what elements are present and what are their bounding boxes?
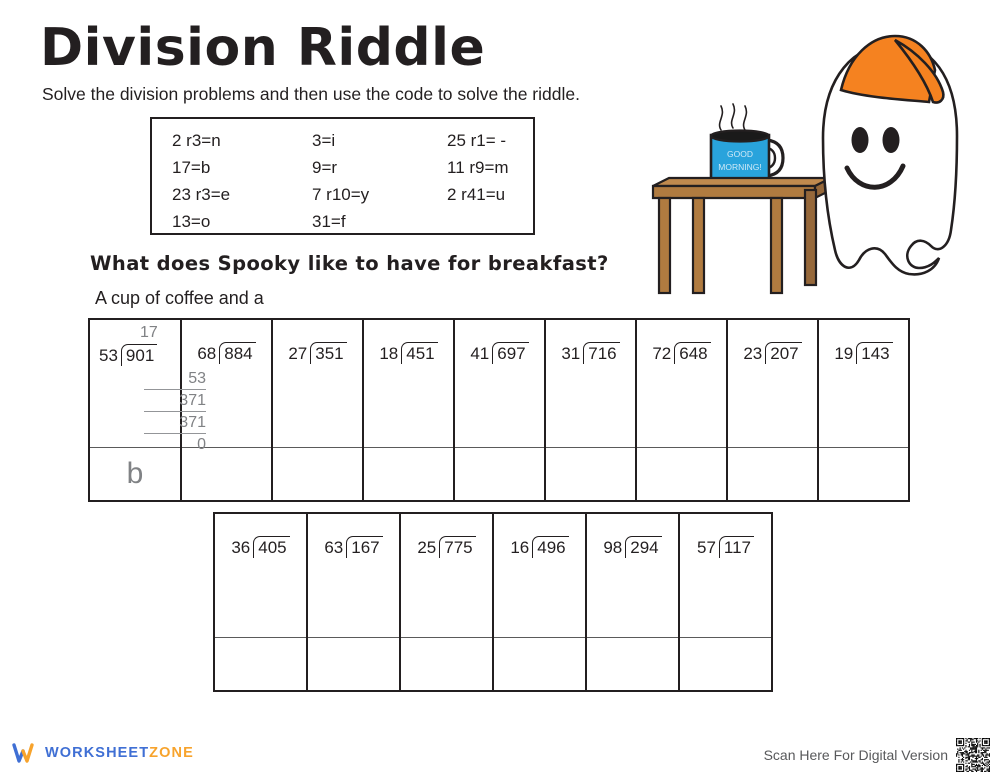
long-division-expression: 25775 (417, 536, 475, 558)
code-legend-entry: 3=i (312, 128, 447, 153)
problem-cell[interactable]: 98294 (586, 513, 679, 637)
dividend: 496 (532, 536, 568, 558)
problem-cell[interactable]: 57117 (679, 513, 772, 637)
code-legend-entry: 13=o (172, 209, 312, 234)
code-legend-entry: 17=b (172, 155, 312, 180)
problem-cell[interactable]: 31716 (545, 319, 636, 447)
answer-cell[interactable] (727, 447, 818, 501)
riddle-answer-lead: A cup of coffee and a (95, 288, 264, 309)
divisor: 16 (510, 538, 532, 558)
long-division-expression: 16496 (510, 536, 568, 558)
dividend: 294 (625, 536, 661, 558)
long-division-expression: 68884 (197, 342, 255, 364)
long-division-expression: 19143 (834, 342, 892, 364)
problem-cell[interactable]: 18451 (363, 319, 454, 447)
code-legend-entry: 9=r (312, 155, 447, 180)
answer-cell[interactable] (586, 637, 679, 691)
answer-cell[interactable]: b (89, 447, 181, 501)
ghost-eye-left (852, 127, 869, 153)
scan-text: Scan Here For Digital Version (764, 747, 948, 763)
dividend: 143 (856, 342, 892, 364)
quotient: 17 (140, 324, 158, 342)
long-division-expression: 27351 (288, 342, 346, 364)
long-division-expression: 53901 (99, 344, 157, 366)
worked-example: 1753901533713710 (90, 320, 180, 447)
dividend: 697 (492, 342, 528, 364)
answer-cell[interactable] (818, 447, 909, 501)
divisor: 68 (197, 344, 219, 364)
division-work: 533713710 (144, 368, 206, 455)
divisor: 63 (324, 538, 346, 558)
dividend: 716 (583, 342, 619, 364)
divisor: 57 (697, 538, 719, 558)
long-division-expression: 72648 (652, 342, 710, 364)
problem-table-2: 364056316725775164969829457117 (213, 512, 773, 692)
page-title: Division Riddle (40, 18, 485, 78)
code-legend-grid: 2 r3=n3=i25 r1= -17=b9=r11 r9=m23 r3=e7 … (172, 128, 533, 234)
code-legend-entry: 11 r9=m (447, 155, 533, 180)
answer-cell[interactable] (214, 637, 307, 691)
dividend: 117 (719, 536, 754, 558)
answer-cell[interactable] (545, 447, 636, 501)
answer-letter: b (127, 457, 144, 490)
divisor: 98 (603, 538, 625, 558)
table-row-answers: b (89, 447, 909, 501)
answer-cell[interactable] (493, 637, 586, 691)
long-division-expression: 31716 (561, 342, 619, 364)
divisor: 31 (561, 344, 583, 364)
long-division-expression: 63167 (324, 536, 382, 558)
worksheetzone-logo-icon (12, 742, 38, 764)
dividend: 648 (674, 342, 710, 364)
problem-cell[interactable]: 27351 (272, 319, 363, 447)
long-division-expression: 36405 (231, 536, 289, 558)
code-legend-entry: 7 r10=y (312, 182, 447, 207)
worksheet-page: Division Riddle Solve the division probl… (0, 0, 1000, 772)
dividend: 405 (253, 536, 289, 558)
riddle-question: What does Spooky like to have for breakf… (90, 252, 609, 275)
long-division-expression: 23207 (743, 342, 801, 364)
problem-cell[interactable]: 36405 (214, 513, 307, 637)
ghost-illustration (805, 18, 995, 288)
problem-cell[interactable]: 19143 (818, 319, 909, 447)
dividend: 351 (310, 342, 346, 364)
table-row-answers (214, 637, 772, 691)
brand-name-second: ZONE (149, 745, 194, 761)
steam-icon (720, 104, 747, 130)
table-row-problems: 1753901533713710688842735118451416973171… (89, 319, 909, 447)
answer-cell[interactable] (363, 447, 454, 501)
division-step: 371 (144, 390, 206, 412)
code-legend-entry: 23 r3=e (172, 182, 312, 207)
divisor: 25 (417, 538, 439, 558)
problem-table-1: 1753901533713710688842735118451416973171… (88, 318, 910, 502)
dividend: 167 (346, 536, 382, 558)
long-division-expression: 98294 (603, 536, 661, 558)
qr-code-icon[interactable] (956, 738, 990, 772)
brand-footer: WORKSHEETZONE (12, 742, 194, 764)
scan-footer: Scan Here For Digital Version (764, 738, 990, 772)
code-legend-entry (447, 209, 533, 234)
divisor: 41 (470, 344, 492, 364)
divisor: 18 (379, 344, 401, 364)
long-division-expression: 18451 (379, 342, 437, 364)
long-division-expression: 57117 (697, 536, 754, 558)
problem-cell[interactable]: 23207 (727, 319, 818, 447)
division-step: 0 (144, 434, 206, 455)
answer-cell[interactable] (307, 637, 400, 691)
division-step: 53 (144, 368, 206, 390)
dividend: 451 (401, 342, 437, 364)
dividend: 775 (439, 536, 475, 558)
code-legend-entry: 2 r41=u (447, 182, 533, 207)
problem-cell[interactable]: 41697 (454, 319, 545, 447)
dividend: 207 (765, 342, 801, 364)
divisor: 19 (834, 344, 856, 364)
code-legend-entry: 2 r3=n (172, 128, 312, 153)
table-row-problems: 364056316725775164969829457117 (214, 513, 772, 637)
problem-cell[interactable]: 63167 (307, 513, 400, 637)
instruction-text: Solve the division problems and then use… (42, 84, 580, 105)
mug-text-line2: MORNING! (718, 162, 761, 172)
answer-cell[interactable] (636, 447, 727, 501)
dividend: 901 (121, 344, 157, 366)
divisor: 36 (231, 538, 253, 558)
ghost-eye-right (883, 127, 900, 153)
divisor: 72 (652, 344, 674, 364)
problem-cell[interactable]: 25775 (400, 513, 493, 637)
problem-cell[interactable]: 72648 (636, 319, 727, 447)
answer-cell[interactable] (454, 447, 545, 501)
mug-text-line1: GOOD (727, 149, 753, 159)
code-legend-entry: 25 r1= - (447, 128, 533, 153)
problem-cell[interactable]: 1753901533713710 (89, 319, 181, 447)
code-legend-box: 2 r3=n3=i25 r1= -17=b9=r11 r9=m23 r3=e7 … (150, 117, 535, 235)
divisor: 53 (99, 346, 121, 366)
divisor: 23 (743, 344, 765, 364)
answer-cell[interactable] (272, 447, 363, 501)
problem-cell[interactable]: 16496 (493, 513, 586, 637)
dividend: 884 (219, 342, 255, 364)
answer-cell[interactable] (400, 637, 493, 691)
answer-cell[interactable] (679, 637, 772, 691)
answer-cell[interactable] (181, 447, 272, 501)
long-division-expression: 41697 (470, 342, 528, 364)
brand-name-first: WORKSHEET (45, 745, 149, 761)
code-legend-entry: 31=f (312, 209, 447, 234)
division-step: 371 (144, 412, 206, 434)
divisor: 27 (288, 344, 310, 364)
